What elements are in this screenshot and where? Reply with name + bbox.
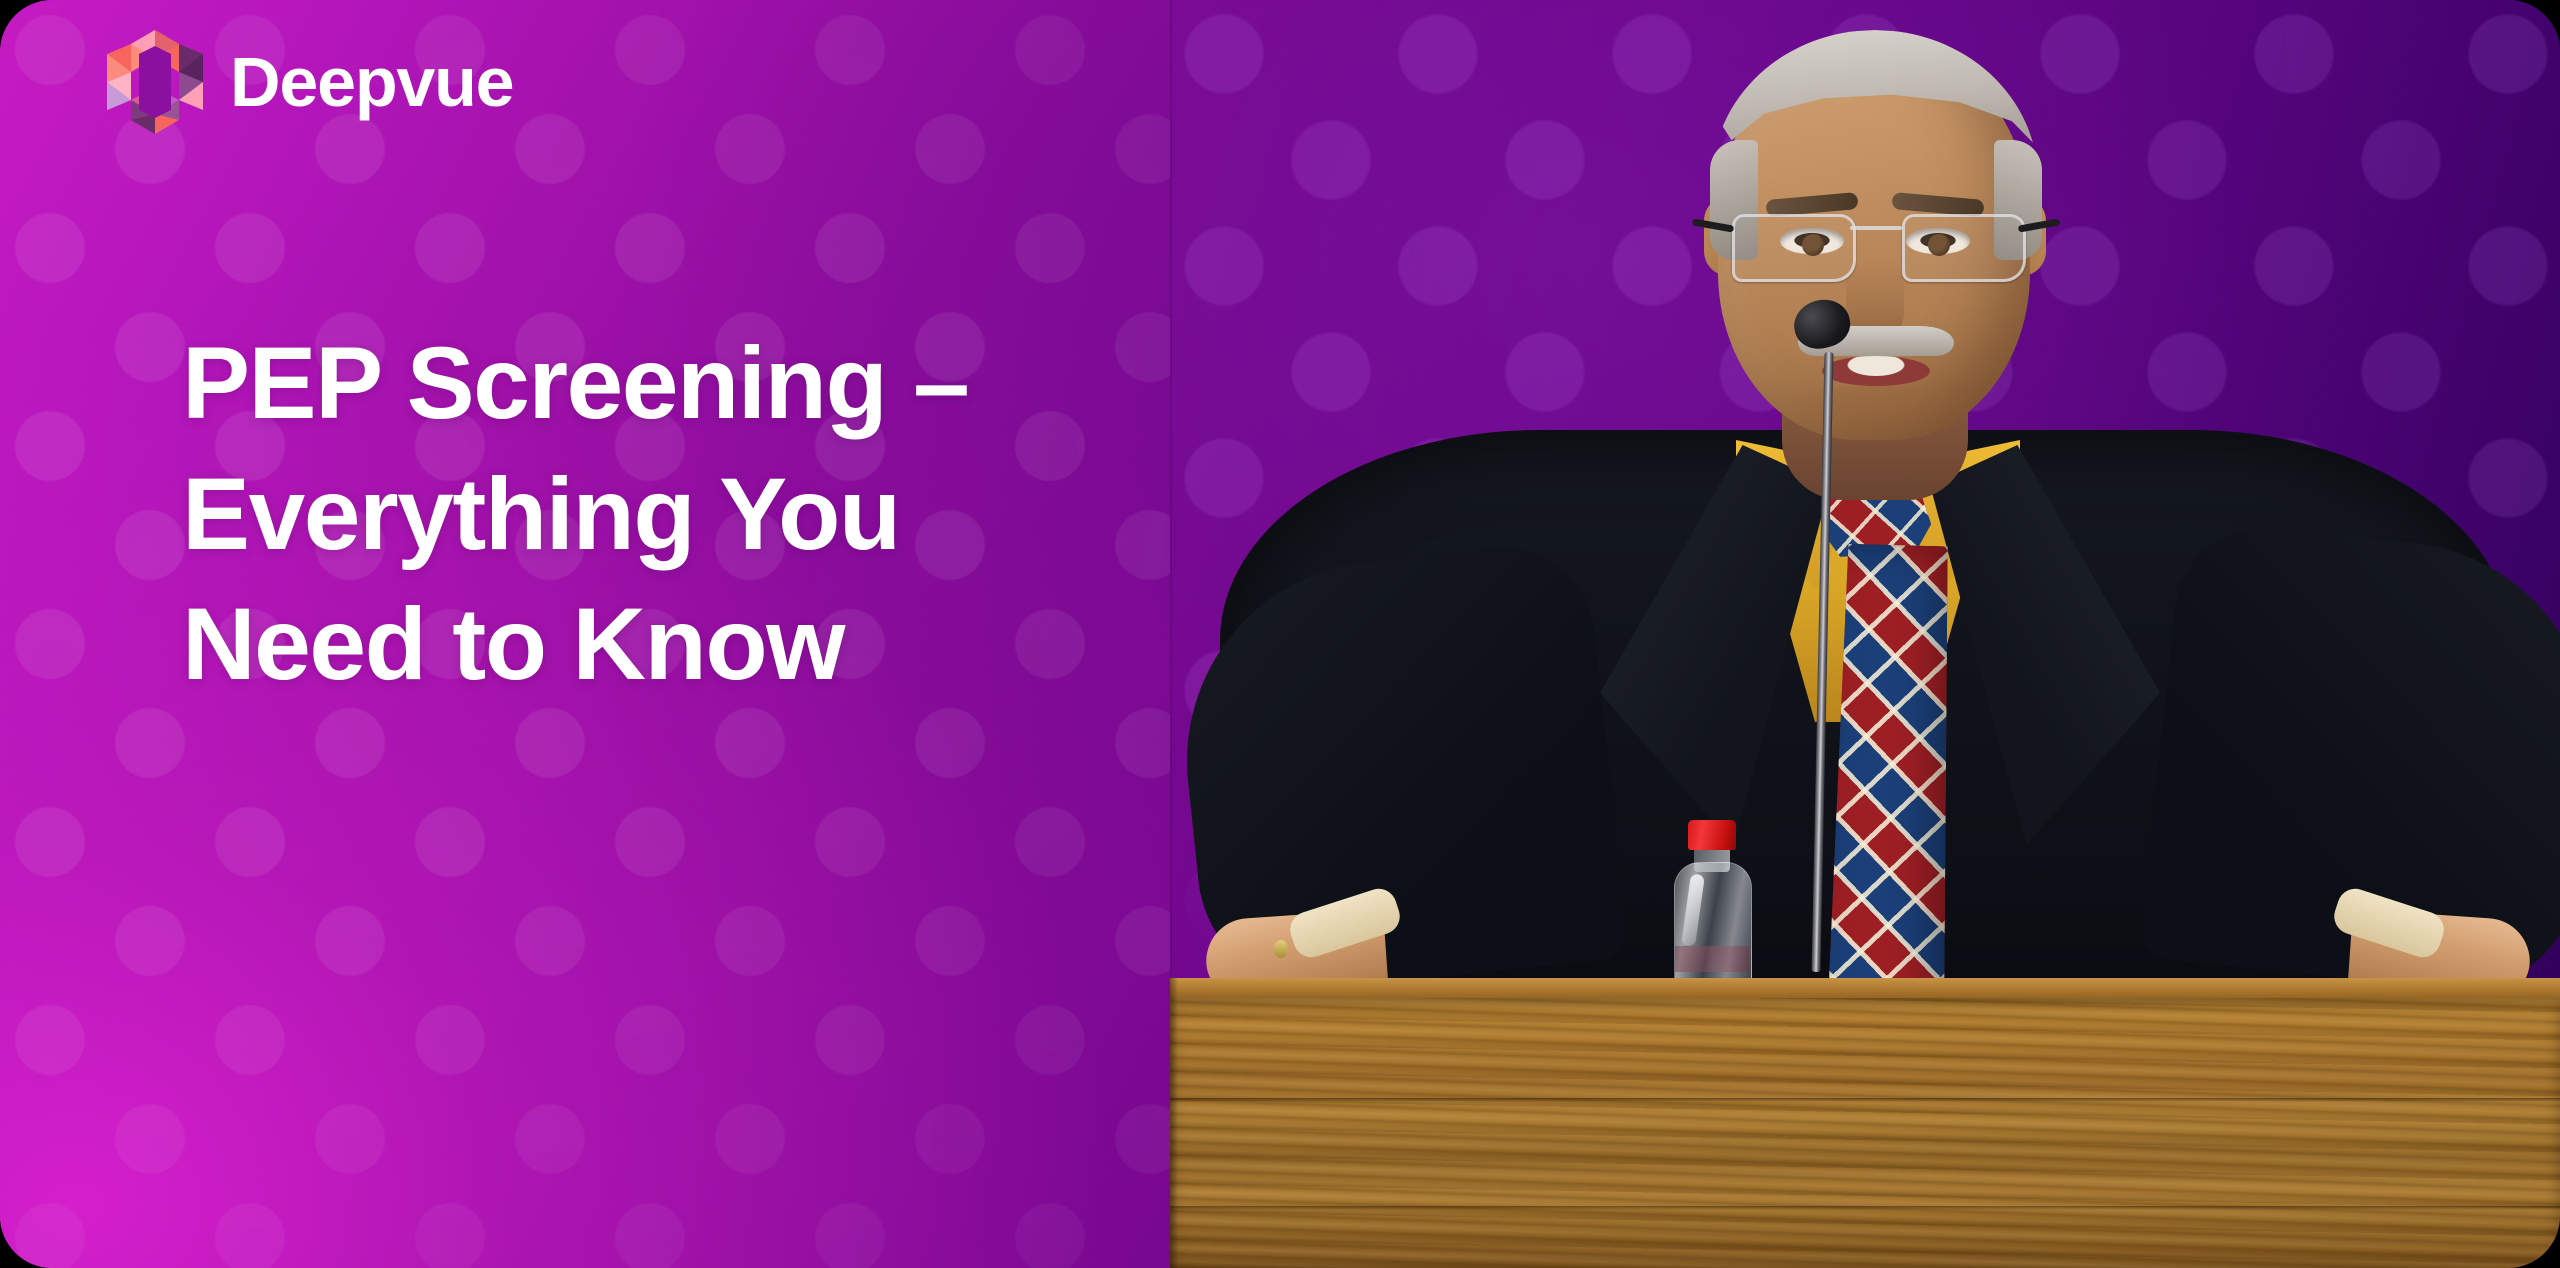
headline-line-3: Need to Know <box>182 579 968 710</box>
brand-logo-lockup[interactable]: Deepvue <box>104 28 513 136</box>
headline-line-1: PEP Screening – <box>182 318 968 449</box>
promo-banner: Deepvue PEP Screening – Everything You N… <box>0 0 2560 1268</box>
bottle-label <box>1675 946 1749 972</box>
headline-line-2: Everything You <box>182 449 968 580</box>
wooden-podium <box>1170 978 2560 1268</box>
mouth <box>1822 356 1930 386</box>
eyeglass-bridge <box>1850 226 1902 230</box>
bottle-cap <box>1688 820 1736 850</box>
eyeglass-lens-left <box>1732 214 1856 282</box>
page-title: PEP Screening – Everything You Need to K… <box>182 318 968 710</box>
speaker-photo <box>1170 0 2560 1268</box>
deepvue-hexagon-logo-icon <box>104 28 206 136</box>
eyeglasses-icon <box>1726 212 2026 290</box>
speaker-photo-panel <box>1170 0 2560 1268</box>
eyeglass-lens-right <box>1902 214 2026 282</box>
podium-front-panel <box>1170 998 2560 1268</box>
water-bottle <box>1670 820 1754 990</box>
podium-seam-upper <box>1170 1098 2560 1102</box>
podium-seam-lower <box>1170 1206 2560 1210</box>
podium-left-edge <box>1170 978 1178 1268</box>
brand-wordmark: Deepvue <box>230 47 513 117</box>
chin-shadow <box>1766 386 1986 442</box>
finger-ring <box>1274 940 1288 958</box>
